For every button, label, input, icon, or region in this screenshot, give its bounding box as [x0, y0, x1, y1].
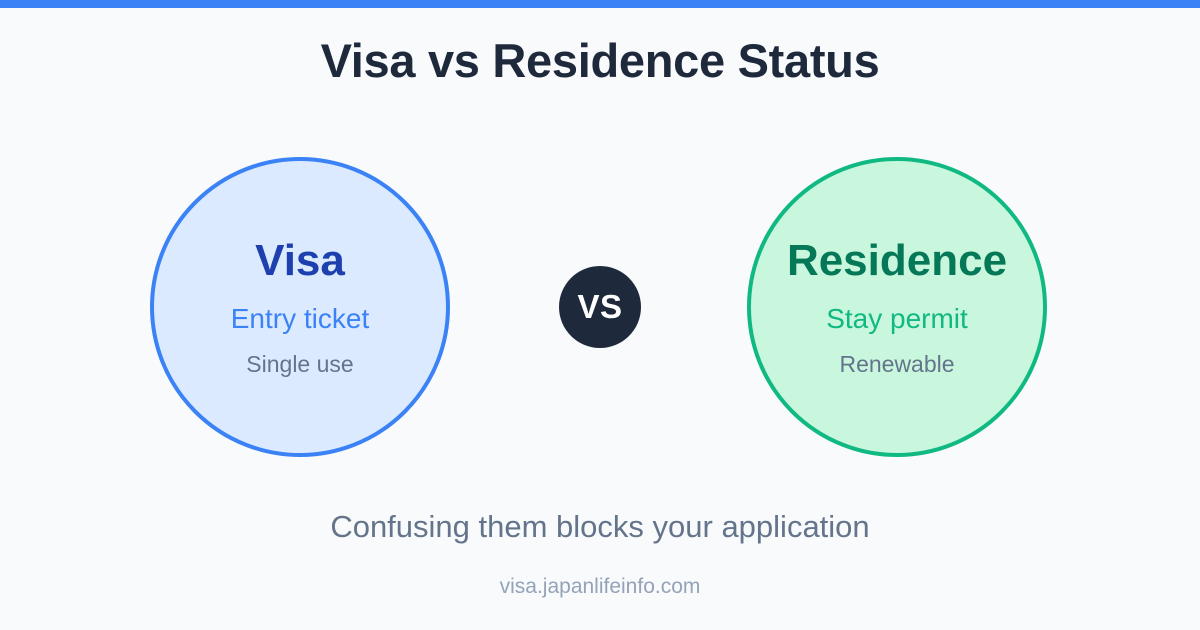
vs-badge: VS — [559, 266, 641, 348]
top-accent-bar — [0, 0, 1200, 8]
residence-title: Residence — [787, 239, 1007, 283]
site-url: visa.japanlifeinfo.com — [0, 574, 1200, 599]
comparison-stage: Visa Entry ticket Single use VS Residenc… — [0, 155, 1200, 465]
tagline: Confusing them blocks your application — [0, 508, 1200, 545]
visa-note: Single use — [246, 353, 353, 376]
residence-circle: Residence Stay permit Renewable — [747, 157, 1047, 457]
visa-title: Visa — [255, 239, 345, 283]
visa-subtitle: Entry ticket — [231, 305, 369, 333]
page-title: Visa vs Residence Status — [0, 34, 1200, 88]
visa-circle: Visa Entry ticket Single use — [150, 157, 450, 457]
residence-note: Renewable — [839, 353, 954, 376]
residence-subtitle: Stay permit — [826, 305, 968, 333]
